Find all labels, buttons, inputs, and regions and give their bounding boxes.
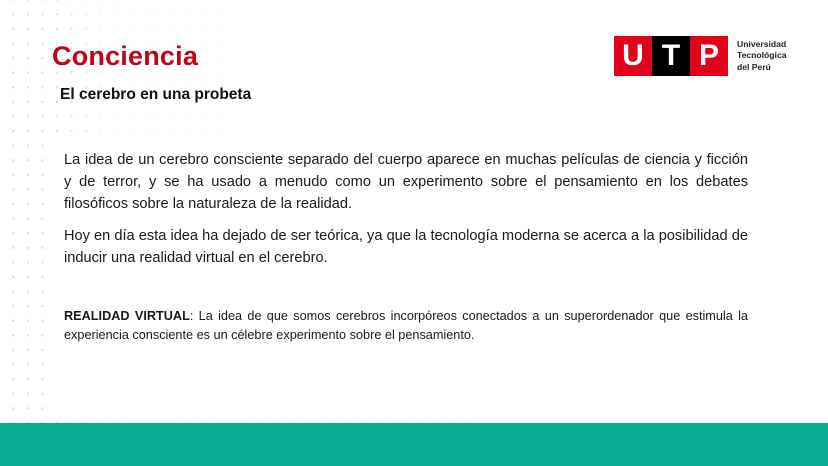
slide-title: Conciencia — [52, 41, 198, 72]
definition-block: REALIDAD VIRTUAL: La idea de que somos c… — [64, 307, 748, 346]
slide-canvas: Conciencia El cerebro en una probeta U T… — [0, 0, 828, 466]
institution-line-1: Universidad — [737, 39, 787, 50]
institution-line-3: del Perú — [737, 62, 787, 73]
definition-term: REALIDAD VIRTUAL — [64, 309, 190, 323]
logo-letter-t: T — [652, 36, 690, 76]
logo-letter-p: P — [690, 36, 728, 76]
footer-bar — [0, 423, 828, 466]
slide-subtitle: El cerebro en una probeta — [60, 86, 251, 104]
paragraph-modern-technology: Hoy en día esta idea ha dejado de ser te… — [64, 226, 748, 270]
body-copy: La idea de un cerebro consciente separad… — [64, 150, 748, 357]
institution-line-2: Tecnológica — [737, 50, 787, 61]
paragraph-intro: La idea de un cerebro consciente separad… — [64, 150, 748, 215]
utp-institution-name: Universidad Tecnológica del Perú — [737, 39, 787, 73]
utp-logo-mark: U T P — [614, 36, 728, 76]
logo-letter-u: U — [614, 36, 652, 76]
utp-logo: U T P Universidad Tecnológica del Perú — [614, 36, 787, 76]
